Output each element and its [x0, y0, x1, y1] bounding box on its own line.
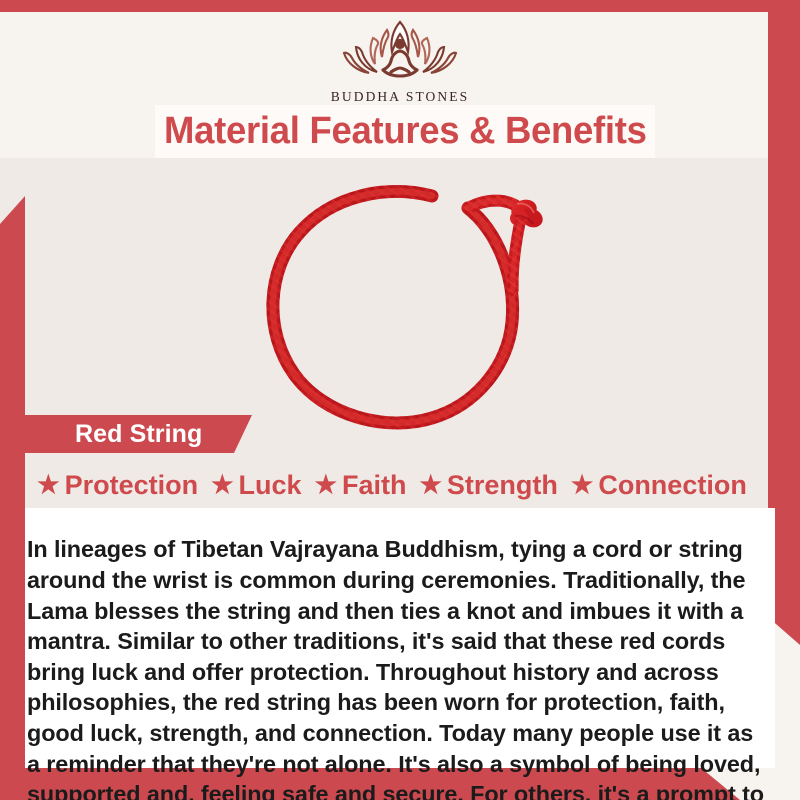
benefit-label: Luck: [239, 470, 302, 501]
benefit-label: Faith: [342, 470, 407, 501]
benefit-item-luck: ★ Luck: [211, 470, 301, 501]
body-text: In lineages of Tibetan Vajrayana Buddhis…: [27, 534, 772, 800]
benefit-label: Protection: [65, 470, 199, 501]
benefit-item-connection: ★ Connection: [571, 470, 747, 501]
star-icon: ★: [419, 473, 441, 498]
page-title: Material Features & Benefits: [164, 110, 647, 153]
frame-bar-top: [0, 0, 800, 12]
benefit-item-protection: ★ Protection: [37, 470, 198, 501]
product-image: [236, 166, 576, 442]
benefit-item-faith: ★ Faith: [315, 470, 407, 501]
brand-logo: BUDDHA STONES: [0, 14, 800, 105]
benefit-label: Strength: [447, 470, 558, 501]
section-ribbon-label: Red String: [75, 420, 202, 449]
benefit-label: Connection: [598, 470, 747, 501]
poster-root: BUDDHA STONES Material Features & Benefi…: [0, 0, 800, 800]
star-icon: ★: [37, 473, 59, 498]
benefit-item-strength: ★ Strength: [419, 470, 557, 501]
star-icon: ★: [211, 473, 233, 498]
section-ribbon: Red String: [16, 415, 252, 453]
star-icon: ★: [315, 473, 337, 498]
star-icon: ★: [571, 473, 593, 498]
title-band: Material Features & Benefits: [155, 105, 655, 158]
lotus-meditation-icon: [325, 14, 475, 86]
benefits-row: ★ Protection ★ Luck ★ Faith ★ Strength ★…: [22, 466, 762, 504]
brand-name: BUDDHA STONES: [331, 89, 469, 105]
